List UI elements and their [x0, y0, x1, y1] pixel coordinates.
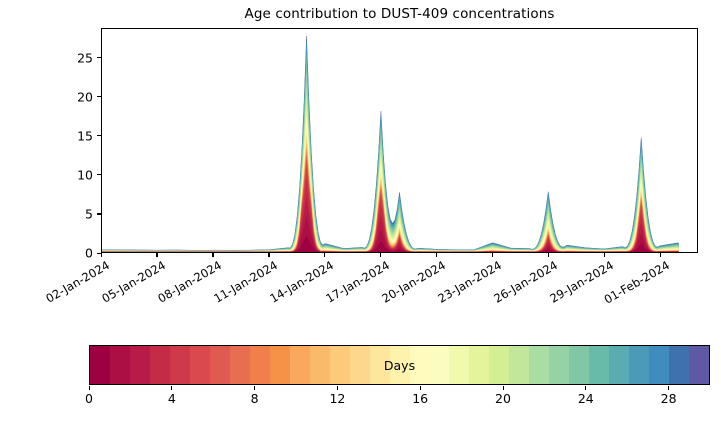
colorbar-tick-label: 4 [168, 391, 176, 406]
colorbar-tick-label: 28 [661, 391, 677, 406]
colorbar-segment [190, 346, 210, 384]
y-tick-label: 5 [59, 206, 93, 221]
area-band-age-27 [102, 48, 678, 252]
colorbar[interactable]: Days [89, 345, 710, 385]
colorbar-segment [150, 346, 170, 384]
colorbar-segment [410, 346, 430, 384]
x-tick-mark [212, 253, 213, 257]
colorbar-segment [270, 346, 290, 384]
colorbar-tick-mark [254, 386, 255, 390]
colorbar-tick-label: 20 [495, 391, 511, 406]
colorbar-tick-mark [337, 386, 338, 390]
y-tick-label: 0 [59, 246, 93, 261]
x-tick-mark [604, 253, 605, 257]
colorbar-segment [90, 346, 110, 384]
colorbar-segment [609, 346, 629, 384]
colorbar-segment [469, 346, 489, 384]
colorbar-segment [370, 346, 390, 384]
plot-area [101, 28, 698, 253]
colorbar-segment [589, 346, 609, 384]
colorbar-segment [110, 346, 130, 384]
colorbar-segment [449, 346, 469, 384]
colorbar-segment [170, 346, 190, 384]
x-tick-mark [101, 253, 102, 257]
x-tick-mark [380, 253, 381, 257]
colorbar-segment [250, 346, 270, 384]
colorbar-tick-mark [585, 386, 586, 390]
colorbar-segment [549, 346, 569, 384]
colorbar-segment [310, 346, 330, 384]
y-tick-label: 10 [59, 167, 93, 182]
plot-clip [102, 29, 697, 252]
colorbar-tick-mark [89, 386, 90, 390]
colorbar-segment [489, 346, 509, 384]
colorbar-tick-label: 24 [578, 391, 594, 406]
x-tick-mark [436, 253, 437, 257]
colorbar-segment [649, 346, 669, 384]
colorbar-segment [290, 346, 310, 384]
stacked-area-series [102, 29, 697, 252]
colorbar-segment [429, 346, 449, 384]
colorbar-segment [330, 346, 350, 384]
chart-figure: Age contribution to DUST-409 concentrati… [0, 0, 721, 425]
x-tick-mark [268, 253, 269, 257]
x-tick-mark [156, 253, 157, 257]
colorbar-segment [529, 346, 549, 384]
colorbar-segment [669, 346, 689, 384]
colorbar-segment [230, 346, 250, 384]
colorbar-tick-mark [171, 386, 172, 390]
y-tick-label: 20 [59, 89, 93, 104]
x-tick-mark [324, 253, 325, 257]
colorbar-segment [689, 346, 709, 384]
area-band-age-28 [102, 43, 678, 252]
chart-title: Age contribution to DUST-409 concentrati… [101, 6, 698, 22]
colorbar-segment [130, 346, 150, 384]
colorbar-tick-label: 8 [251, 391, 259, 406]
colorbar-segment [390, 346, 410, 384]
colorbar-tick-label: 0 [85, 391, 93, 406]
y-tick-label: 15 [59, 128, 93, 143]
colorbar-tick-label: 12 [329, 391, 345, 406]
colorbar-tick-mark [668, 386, 669, 390]
colorbar-segment [509, 346, 529, 384]
colorbar-tick-mark [420, 386, 421, 390]
colorbar-segment [350, 346, 370, 384]
x-tick-mark [660, 253, 661, 257]
colorbar-segment [569, 346, 589, 384]
colorbar-gradient [89, 345, 710, 385]
y-tick-label: 25 [59, 50, 93, 65]
colorbar-segment [629, 346, 649, 384]
colorbar-segment [210, 346, 230, 384]
x-tick-mark [492, 253, 493, 257]
colorbar-tick-label: 16 [412, 391, 428, 406]
colorbar-tick-mark [503, 386, 504, 390]
x-tick-mark [548, 253, 549, 257]
